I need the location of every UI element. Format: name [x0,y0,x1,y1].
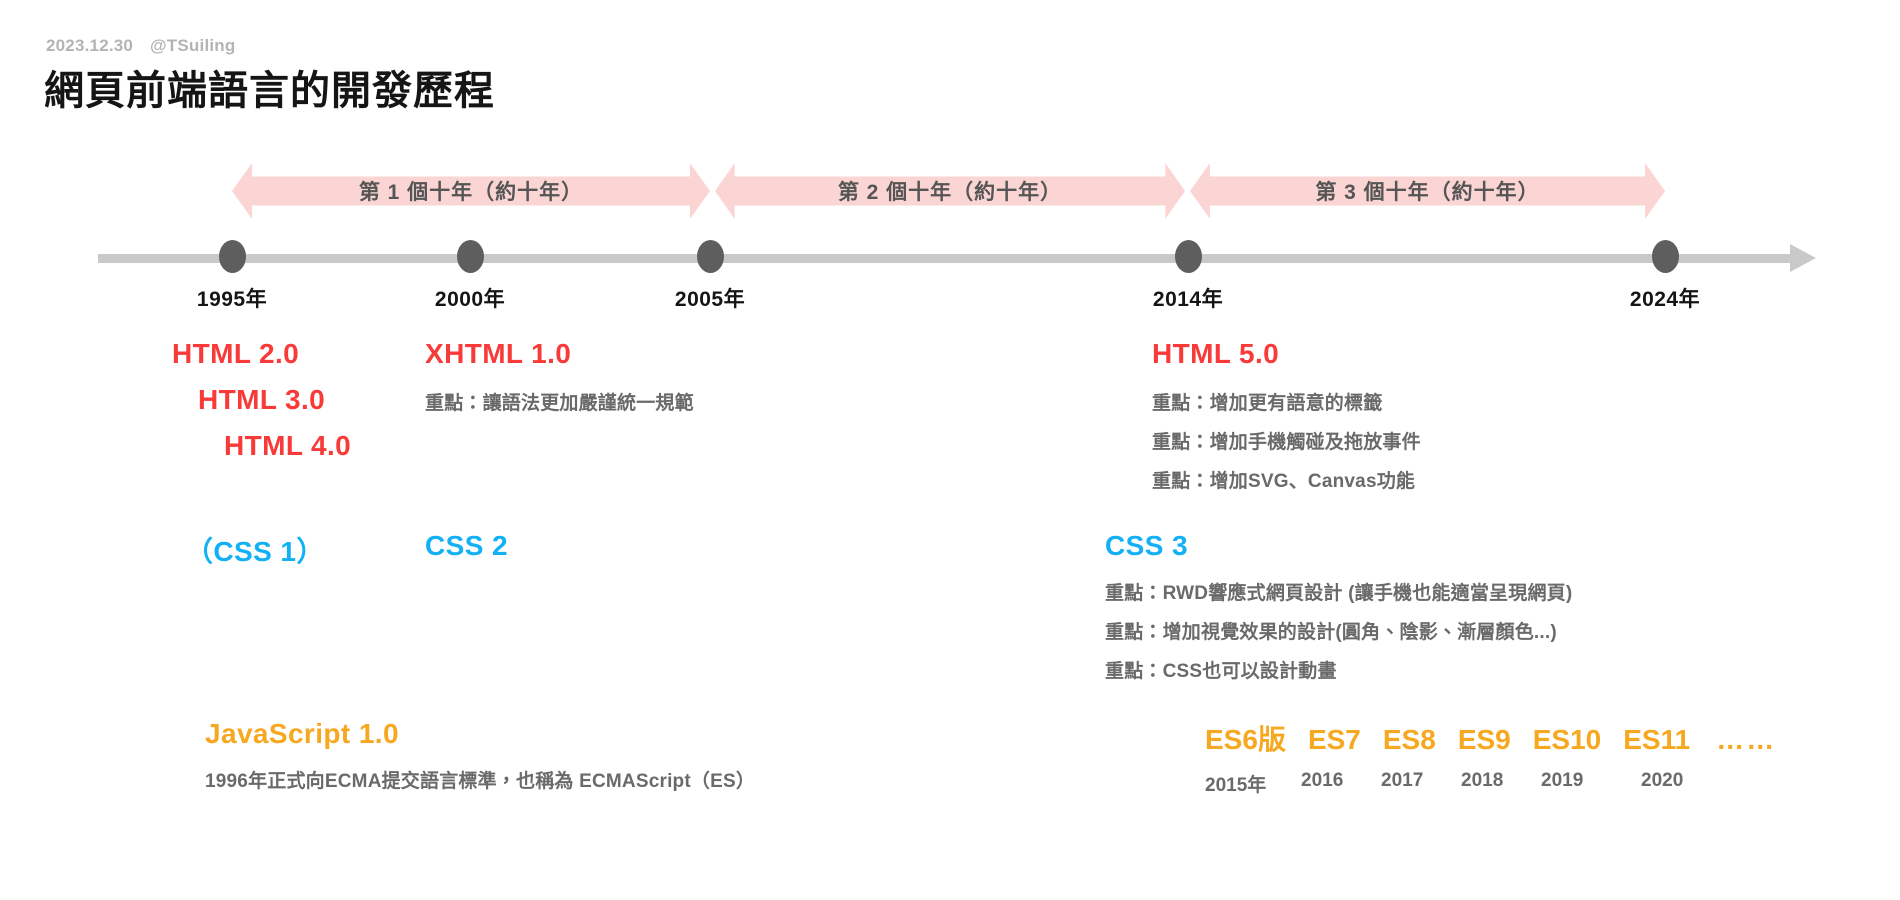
html5-block: HTML 5.0 重點：增加更有語意的標籤 重點：增加手機觸碰及拖放事件 重點：… [1152,338,1421,493]
css3-block: CSS 3 重點：RWD響應式網頁設計 (讓手機也能適當呈現網頁) 重點：增加視… [1105,530,1572,683]
es-version-item: ES6版 [1205,718,1286,758]
decade-band-2: 第 2 個十年（約十年） [715,163,1185,219]
html-version-item: HTML 3.0 [198,384,351,416]
html5-note: 重點：增加SVG、Canvas功能 [1152,466,1421,493]
css3-title: CSS 3 [1105,530,1572,562]
author-handle: @TSuiling [150,36,235,55]
html-version-item: HTML 4.0 [224,430,351,462]
timeline-axis [98,254,1793,263]
html5-note: 重點：增加更有語意的標籤 [1152,388,1421,415]
timeline-label-2024: 2024年 [1630,283,1700,313]
html5-title: HTML 5.0 [1152,338,1421,370]
publish-date: 2023.12.30 [46,36,133,55]
xhtml-note: 重點：讓語法更加嚴謹統一規範 [425,388,694,415]
es-version-item: ES7 [1308,724,1361,756]
timeline-dot-2014 [1175,240,1202,273]
html5-note: 重點：增加手機觸碰及拖放事件 [1152,427,1421,454]
decade-band-label: 第 1 個十年（約十年） [232,163,710,219]
es-version-row: ES6版 ES7 ES8 ES9 ES10 ES11 …… [1205,718,1776,758]
decade-band-label: 第 3 個十年（約十年） [1190,163,1665,219]
es-year-item: 2017 [1381,770,1461,797]
css1-title: （CSS 1） [185,530,325,570]
es-year-item: 2019 [1541,770,1641,797]
es-version-item: ES9 [1458,724,1511,756]
css3-note: 重點：CSS也可以設計動畫 [1105,656,1572,683]
decade-band-3: 第 3 個十年（約十年） [1190,163,1665,219]
es-version-item: ES10 [1533,724,1602,756]
decade-band-label: 第 2 個十年（約十年） [715,163,1185,219]
es-year-item: 2016 [1301,770,1381,797]
javascript-note: 1996年正式向ECMA提交語言標準，也稱為 ECMAScript（ES） [205,766,755,793]
javascript-title: JavaScript 1.0 [205,718,755,750]
es-version-ellipsis: …… [1716,724,1776,756]
html5-notes: 重點：增加更有語意的標籤 重點：增加手機觸碰及拖放事件 重點：增加SVG、Can… [1152,388,1421,493]
xhtml-notes: 重點：讓語法更加嚴謹統一規範 [425,388,694,415]
es-version-item: ES11 [1623,724,1690,756]
timeline-label-2005: 2005年 [675,283,745,313]
xhtml-title: XHTML 1.0 [425,338,694,370]
es-version-item: ES8 [1383,724,1436,756]
css3-note: 重點：增加視覺效果的設計(圓角、陰影、漸層顏色...) [1105,617,1572,644]
es-versions-block: ES6版 ES7 ES8 ES9 ES10 ES11 …… 2015年 2016… [1205,718,1776,797]
timeline-dot-1995 [219,240,246,273]
timeline-dot-2000 [457,240,484,273]
javascript-block: JavaScript 1.0 1996年正式向ECMA提交語言標準，也稱為 EC… [205,718,755,793]
css3-note: 重點：RWD響應式網頁設計 (讓手機也能適當呈現網頁) [1105,578,1572,605]
meta-line: 2023.12.30 @TSuiling [46,36,235,56]
timeline-label-1995: 1995年 [197,283,267,313]
javascript-notes: 1996年正式向ECMA提交語言標準，也稱為 ECMAScript（ES） [205,766,755,793]
timeline-label-2000: 2000年 [435,283,505,313]
css2-title: CSS 2 [425,530,508,562]
xhtml-block: XHTML 1.0 重點：讓語法更加嚴謹統一規範 [425,338,694,415]
es-year-row: 2015年 2016 2017 2018 2019 2020 [1205,770,1776,797]
css1-block: （CSS 1） [185,530,325,570]
es-year-item: 2020 [1641,770,1683,797]
html-version-item: HTML 2.0 [172,338,351,370]
timeline-label-2014: 2014年 [1153,283,1223,313]
es-year-item: 2015年 [1205,770,1301,797]
infographic-canvas: 2023.12.30 @TSuiling 網頁前端語言的開發歷程 第 1 個十年… [0,0,1900,900]
decade-band-1: 第 1 個十年（約十年） [232,163,710,219]
es-year-item: 2018 [1461,770,1541,797]
css3-notes: 重點：RWD響應式網頁設計 (讓手機也能適當呈現網頁) 重點：增加視覺效果的設計… [1105,578,1572,683]
html-early-versions-block: HTML 2.0 HTML 3.0 HTML 4.0 [172,338,351,462]
timeline-arrow-icon [1790,244,1816,272]
page-title: 網頁前端語言的開發歷程 [44,58,495,116]
timeline-dot-2005 [697,240,724,273]
css2-block: CSS 2 [425,530,508,562]
timeline-dot-2024 [1652,240,1679,273]
